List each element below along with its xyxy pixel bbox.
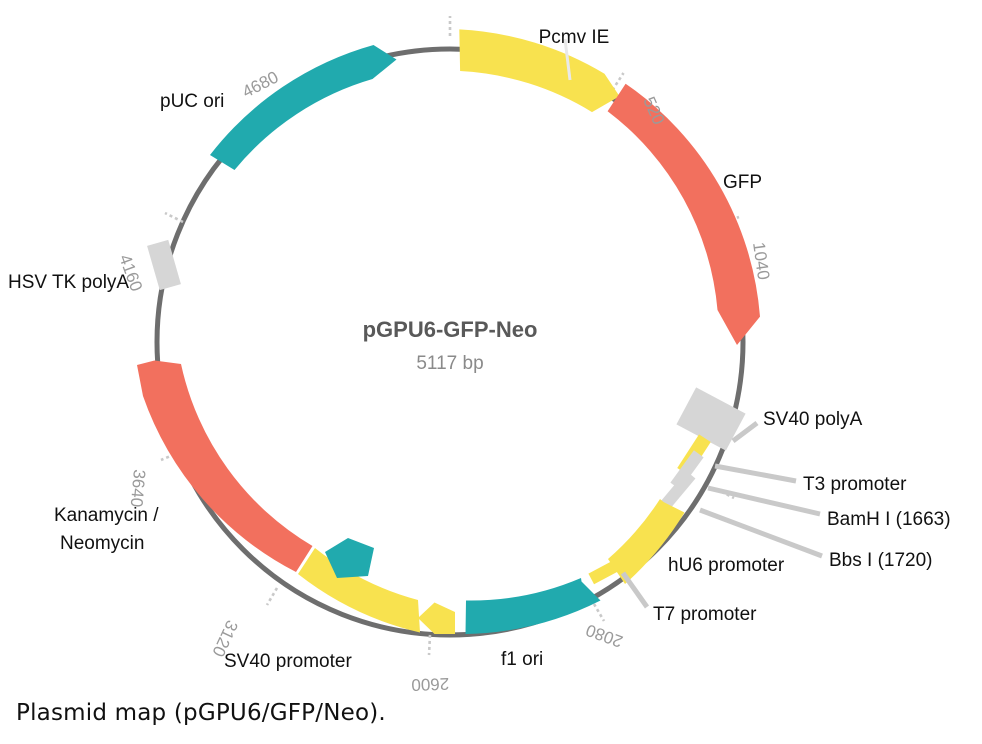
label-hu6-promoter: hU6 promoter: [668, 555, 785, 576]
label-kanamycin-line1: Kanamycin /: [54, 505, 159, 526]
leader-bbsi: [700, 510, 822, 556]
label-t7-promoter: T7 promoter: [653, 604, 757, 625]
label-gfp: GFP: [723, 172, 762, 193]
label-puc-ori: pUC ori: [160, 91, 224, 112]
feature-small-arrow[interactable]: [418, 603, 455, 635]
label-f1-ori: f1 ori: [501, 649, 543, 670]
feature-puc-ori[interactable]: [210, 45, 397, 170]
label-pcmv-ie: Pcmv IE: [539, 27, 610, 48]
plasmid-map-svg: pGPU6-GFP-Neo 5117 bp Pcmv IE GFP SV40 p…: [0, 0, 982, 744]
figure-caption: Plasmid map (pGPU6/GFP/Neo).: [16, 700, 386, 726]
feature-gfp[interactable]: [608, 84, 760, 345]
leader-t7-promoter: [623, 573, 647, 607]
label-sv40-promoter: SV40 promoter: [224, 651, 352, 672]
center-title-group: pGPU6-GFP-Neo 5117 bp: [363, 317, 538, 374]
label-t3-promoter: T3 promoter: [803, 474, 907, 495]
label-bamhi: BamH I (1663): [827, 509, 951, 530]
feature-kanamycin-neomycin[interactable]: [137, 361, 313, 573]
feature-hsv-tk-polya[interactable]: [147, 240, 181, 290]
tick-label-2080: 2080: [583, 620, 625, 651]
plasmid-title: pGPU6-GFP-Neo: [363, 317, 538, 342]
label-kanamycin-line2: Neomycin: [60, 533, 144, 554]
leader-t3-promoter: [715, 466, 796, 481]
label-hsv-tk-polya: HSV TK polyA: [8, 272, 129, 293]
feature-labels: Pcmv IE GFP SV40 polyA T3 promoter BamH …: [8, 27, 951, 672]
label-sv40-polya: SV40 polyA: [763, 409, 863, 430]
plasmid-size: 5117 bp: [416, 353, 483, 374]
tick-label-2600: 2600: [411, 674, 449, 694]
label-bbsi: Bbs I (1720): [829, 550, 933, 571]
tick-label-3640: 3640: [127, 469, 149, 508]
plasmid-map-figure: pGPU6-GFP-Neo 5117 bp Pcmv IE GFP SV40 p…: [0, 0, 982, 744]
